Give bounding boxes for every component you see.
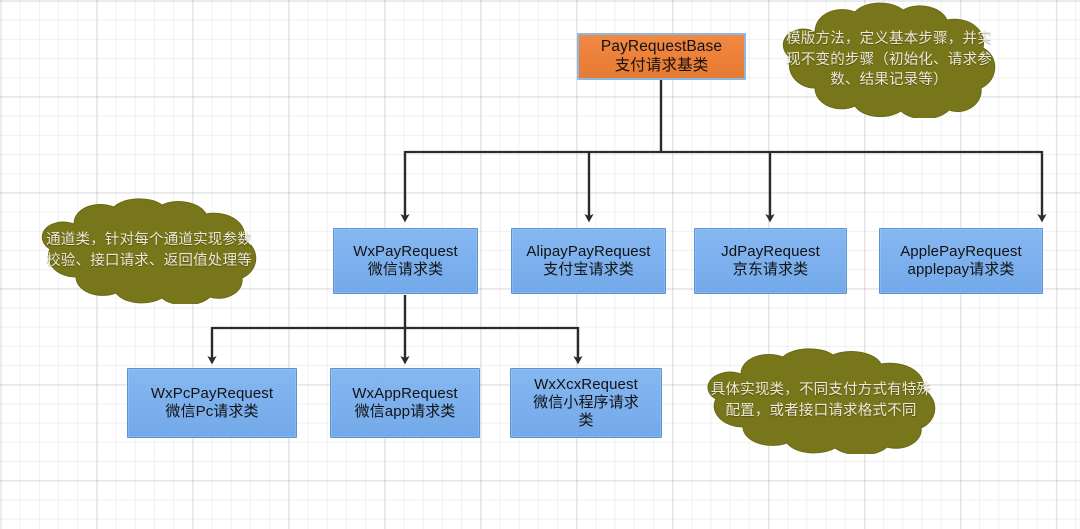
diagram-canvas: PayRequestBase 支付请求基类 WxPayRequest 微信请求类… — [0, 0, 1080, 529]
node-subtitle-line: 京东请求类 — [733, 261, 809, 279]
node-title-line: WxXcxRequest — [534, 376, 638, 394]
node-subtitle-line: applepay请求类 — [908, 261, 1015, 279]
node-title-line: ApplePayRequest — [900, 243, 1022, 261]
node-wx-pay-request[interactable]: WxPayRequest 微信请求类 — [333, 228, 478, 294]
node-wx-xcx-request[interactable]: WxXcxRequest 微信小程序请求类 — [510, 368, 662, 438]
node-wx-app-request[interactable]: WxAppRequest 微信app请求类 — [330, 368, 480, 438]
node-title-line: AlipayPayRequest — [526, 243, 650, 261]
node-alipay-pay-request[interactable]: AlipayPayRequest 支付宝请求类 — [511, 228, 666, 294]
node-title-line: JdPayRequest — [721, 243, 820, 261]
annotation-template-method: 模版方法，定义基本步骤，并实现不变的步骤（初始化、请求参数、结果记录等） — [775, 2, 1003, 118]
node-title-line: PayRequestBase — [601, 38, 722, 56]
node-apple-pay-request[interactable]: ApplePayRequest applepay请求类 — [879, 228, 1043, 294]
node-title-line: WxPayRequest — [353, 243, 458, 261]
node-wx-pc-pay-request[interactable]: WxPcPayRequest 微信Pc请求类 — [127, 368, 297, 438]
node-subtitle-line: 微信Pc请求类 — [165, 403, 258, 421]
node-subtitle-line: 微信小程序请求类 — [527, 394, 645, 429]
node-subtitle-line: 微信app请求类 — [355, 403, 456, 421]
node-title-line: WxAppRequest — [352, 385, 457, 403]
node-subtitle-line: 微信请求类 — [368, 261, 444, 279]
annotation-text: 模版方法，定义基本步骤，并实现不变的步骤（初始化、请求参数、结果记录等） — [775, 29, 1003, 91]
annotation-text: 通道类，针对每个通道实现参数校验、接口请求、返回值处理等 — [32, 230, 266, 271]
node-title-line: WxPcPayRequest — [151, 385, 273, 403]
node-pay-request-base[interactable]: PayRequestBase 支付请求基类 — [577, 33, 746, 80]
node-subtitle-line: 支付宝请求类 — [543, 261, 634, 279]
node-jd-pay-request[interactable]: JdPayRequest 京东请求类 — [694, 228, 847, 294]
annotation-text: 具体实现类，不同支付方式有特殊配置，或者接口请求格式不同 — [697, 380, 945, 421]
annotation-concrete-class: 具体实现类，不同支付方式有特殊配置，或者接口请求格式不同 — [697, 348, 945, 454]
annotation-channel-class: 通道类，针对每个通道实现参数校验、接口请求、返回值处理等 — [32, 198, 266, 304]
node-subtitle-line: 支付请求基类 — [615, 57, 709, 75]
